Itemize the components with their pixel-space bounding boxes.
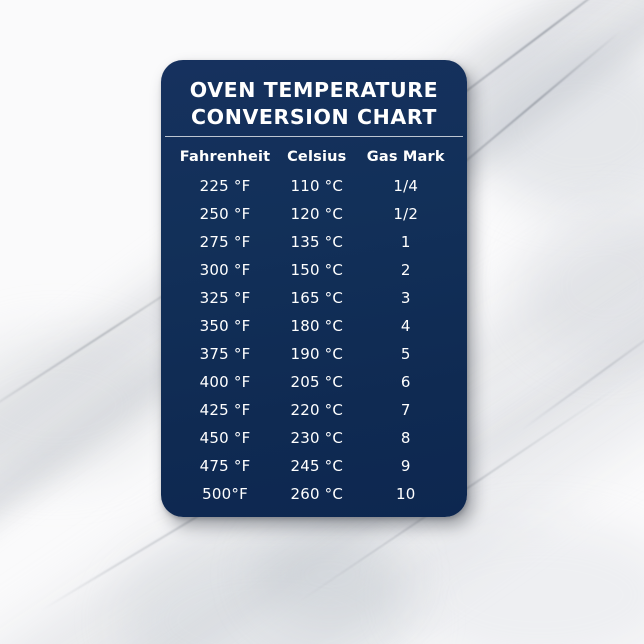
cell-gas-mark: 10	[358, 485, 453, 503]
cell-fahrenheit: 500°F	[175, 485, 275, 503]
cell-celsius: 135 °C	[275, 233, 358, 251]
marble-blotch	[255, 520, 405, 630]
table-row: 325 °F 165 °C 3	[175, 284, 453, 312]
cell-celsius: 150 °C	[275, 261, 358, 279]
cell-gas-mark: 9	[358, 457, 453, 475]
cell-fahrenheit: 350 °F	[175, 317, 275, 335]
card-title-line-1: OVEN TEMPERATURE	[179, 77, 449, 104]
cell-gas-mark: 5	[358, 345, 453, 363]
table-header-row: Fahrenheit Celsius Gas Mark	[175, 144, 453, 170]
cell-celsius: 260 °C	[275, 485, 358, 503]
table-row: 275 °F 135 °C 1	[175, 228, 453, 256]
card-title: OVEN TEMPERATURE CONVERSION CHART	[161, 60, 467, 131]
cell-gas-mark: 6	[358, 373, 453, 391]
table-row: 350 °F 180 °C 4	[175, 312, 453, 340]
cell-fahrenheit: 275 °F	[175, 233, 275, 251]
cell-celsius: 230 °C	[275, 429, 358, 447]
cell-celsius: 245 °C	[275, 457, 358, 475]
cell-celsius: 190 °C	[275, 345, 358, 363]
table-row: 400 °F 205 °C 6	[175, 368, 453, 396]
cell-celsius: 165 °C	[275, 289, 358, 307]
cell-fahrenheit: 425 °F	[175, 401, 275, 419]
cell-celsius: 220 °C	[275, 401, 358, 419]
cell-gas-mark: 3	[358, 289, 453, 307]
cell-fahrenheit: 475 °F	[175, 457, 275, 475]
cell-fahrenheit: 375 °F	[175, 345, 275, 363]
cell-gas-mark: 7	[358, 401, 453, 419]
screenshot-canvas: OVEN TEMPERATURE CONVERSION CHART Fahren…	[0, 0, 644, 644]
cell-celsius: 205 °C	[275, 373, 358, 391]
cell-fahrenheit: 450 °F	[175, 429, 275, 447]
cell-celsius: 120 °C	[275, 205, 358, 223]
cell-fahrenheit: 400 °F	[175, 373, 275, 391]
cell-gas-mark: 4	[358, 317, 453, 335]
card-title-line-2: CONVERSION CHART	[179, 104, 449, 131]
column-header-fahrenheit: Fahrenheit	[175, 149, 275, 165]
cell-fahrenheit: 325 °F	[175, 289, 275, 307]
table-row: 250 °F 120 °C 1/2	[175, 200, 453, 228]
column-header-gas-mark: Gas Mark	[358, 149, 453, 165]
cell-fahrenheit: 250 °F	[175, 205, 275, 223]
cell-gas-mark: 1/4	[358, 177, 453, 195]
cell-fahrenheit: 225 °F	[175, 177, 275, 195]
conversion-table: Fahrenheit Celsius Gas Mark 225 °F 110 °…	[161, 144, 467, 508]
table-row: 300 °F 150 °C 2	[175, 256, 453, 284]
table-row: 475 °F 245 °C 9	[175, 452, 453, 480]
cell-gas-mark: 2	[358, 261, 453, 279]
cell-fahrenheit: 300 °F	[175, 261, 275, 279]
table-row: 225 °F 110 °C 1/4	[175, 172, 453, 200]
conversion-chart-card: OVEN TEMPERATURE CONVERSION CHART Fahren…	[161, 60, 467, 517]
table-row: 425 °F 220 °C 7	[175, 396, 453, 424]
cell-celsius: 110 °C	[275, 177, 358, 195]
table-row: 500°F 260 °C 10	[175, 480, 453, 508]
title-divider	[165, 136, 463, 137]
table-row: 450 °F 230 °C 8	[175, 424, 453, 452]
table-row: 375 °F 190 °C 5	[175, 340, 453, 368]
cell-gas-mark: 1	[358, 233, 453, 251]
cell-gas-mark: 1/2	[358, 205, 453, 223]
column-header-celsius: Celsius	[275, 149, 358, 165]
cell-celsius: 180 °C	[275, 317, 358, 335]
cell-gas-mark: 8	[358, 429, 453, 447]
